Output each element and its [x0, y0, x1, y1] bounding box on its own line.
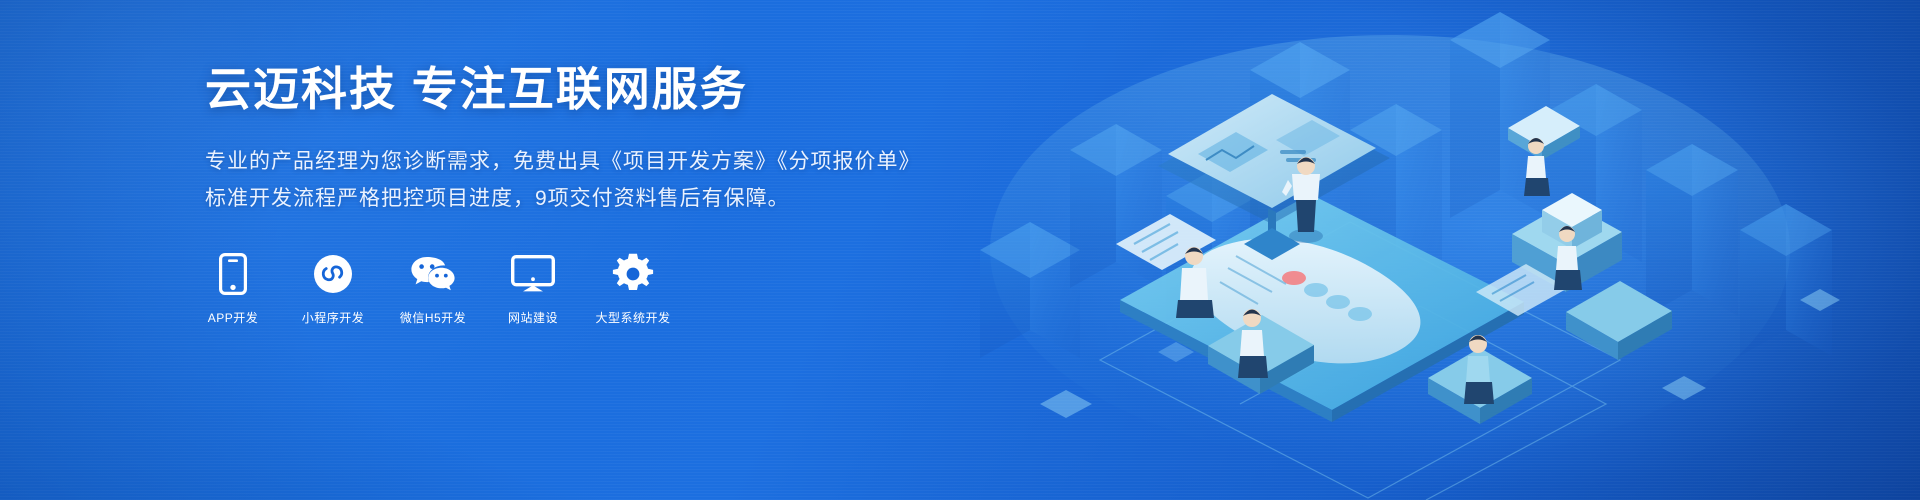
hero-banner: 云迈科技 专注互联网服务 专业的产品经理为您诊断需求，免费出具《项目开发方案》《…: [0, 0, 1920, 500]
service-list: APP开发 小程序开发: [205, 252, 1105, 326]
service-item-app[interactable]: APP开发: [205, 252, 261, 326]
service-label-wechat: 微信H5开发: [400, 309, 466, 326]
hero-subtitle: 专业的产品经理为您诊断需求，免费出具《项目开发方案》《分项报价单》 标准开发流程…: [205, 144, 1105, 218]
service-item-miniprogram[interactable]: 小程序开发: [305, 252, 361, 326]
subtitle-line-2: 标准开发流程严格把控项目进度，9项交付资料售后有保障。: [205, 181, 1105, 218]
mobile-phone-icon: [219, 252, 247, 296]
hero-content: 云迈科技 专注互联网服务 专业的产品经理为您诊断需求，免费出具《项目开发方案》《…: [205, 62, 1105, 326]
subtitle-line-1: 专业的产品经理为您诊断需求，免费出具《项目开发方案》《分项报价单》: [205, 144, 1105, 181]
service-label-website: 网站建设: [508, 309, 558, 326]
service-label-system: 大型系统开发: [596, 309, 671, 326]
monitor-icon: [511, 252, 555, 296]
service-item-wechat[interactable]: 微信H5开发: [405, 252, 461, 326]
service-label-miniprogram: 小程序开发: [302, 309, 365, 326]
service-item-website[interactable]: 网站建设: [505, 252, 561, 326]
service-label-app: APP开发: [208, 309, 259, 326]
page-title: 云迈科技 专注互联网服务: [205, 62, 1105, 117]
service-item-system[interactable]: 大型系统开发: [605, 252, 661, 326]
mini-program-icon: [313, 252, 353, 296]
wechat-icon: [410, 252, 456, 296]
gear-icon: [612, 252, 654, 296]
